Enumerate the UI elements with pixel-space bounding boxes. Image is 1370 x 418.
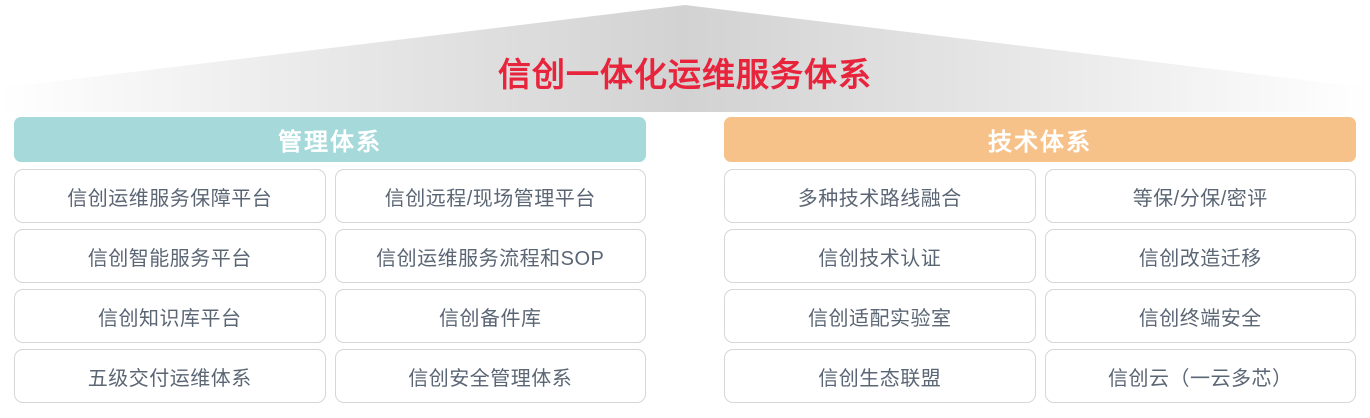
- management-item[interactable]: 信创远程/现场管理平台: [335, 169, 647, 223]
- management-item[interactable]: 信创智能服务平台: [14, 229, 326, 283]
- technology-item[interactable]: 信创技术认证: [724, 229, 1036, 283]
- grid-technology: 多种技术路线融合 等保/分保/密评 信创技术认证 信创改造迁移 信创适配实验室 …: [724, 169, 1356, 418]
- management-item[interactable]: 信创运维服务保障平台: [14, 169, 326, 223]
- management-item[interactable]: 五级交付运维体系: [14, 349, 326, 403]
- management-item[interactable]: 信创备件库: [335, 289, 647, 343]
- management-item[interactable]: 信创运维服务流程和SOP: [335, 229, 647, 283]
- panel-header-management: 管理体系: [14, 117, 646, 162]
- panel-header-technology: 技术体系: [724, 117, 1356, 162]
- management-item[interactable]: 信创知识库平台: [14, 289, 326, 343]
- technology-item[interactable]: 信创改造迁移: [1045, 229, 1357, 283]
- technology-item[interactable]: 等保/分保/密评: [1045, 169, 1357, 223]
- technology-item[interactable]: 信创生态联盟: [724, 349, 1036, 403]
- technology-item[interactable]: 信创云（一云多芯）: [1045, 349, 1357, 403]
- technology-item[interactable]: 信创适配实验室: [724, 289, 1036, 343]
- panel-management: 管理体系 信创运维服务保障平台 信创远程/现场管理平台 信创智能服务平台 信创运…: [14, 117, 646, 418]
- technology-item[interactable]: 信创终端安全: [1045, 289, 1357, 343]
- page-title: 信创一体化运维服务体系: [0, 55, 1370, 95]
- panel-technology: 技术体系 多种技术路线融合 等保/分保/密评 信创技术认证 信创改造迁移 信创适…: [724, 117, 1356, 418]
- management-item[interactable]: 信创安全管理体系: [335, 349, 647, 403]
- grid-management: 信创运维服务保障平台 信创远程/现场管理平台 信创智能服务平台 信创运维服务流程…: [14, 169, 646, 418]
- technology-item[interactable]: 多种技术路线融合: [724, 169, 1036, 223]
- systems-container: 管理体系 信创运维服务保障平台 信创远程/现场管理平台 信创智能服务平台 信创运…: [0, 117, 1370, 418]
